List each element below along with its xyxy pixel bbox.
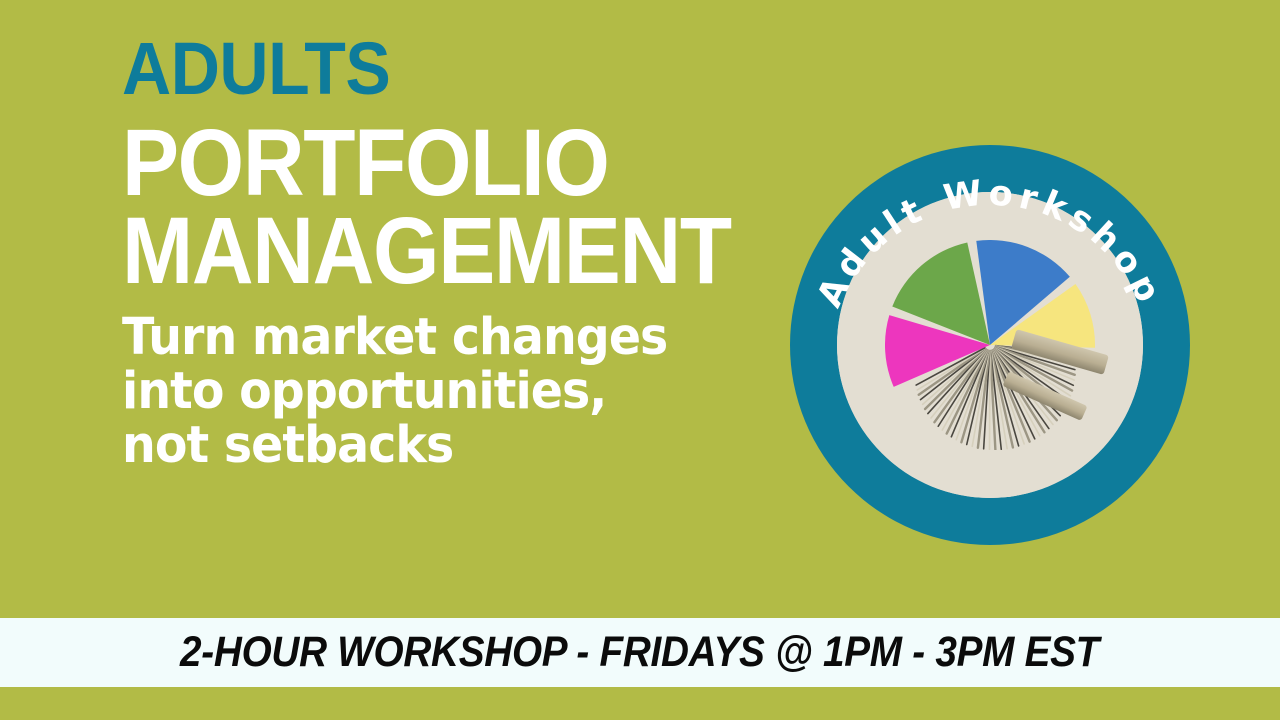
text-column: ADULTS PORTFOLIO MANAGEMENT Turn market …: [122, 34, 802, 473]
subheadline-line-1: Turn market changes: [122, 311, 754, 365]
eyebrow-label: ADULTS: [122, 34, 748, 104]
headline-line-2: MANAGEMENT: [122, 208, 734, 295]
page-title: PORTFOLIO MANAGEMENT: [122, 120, 734, 295]
subheadline: Turn market changes into opportunities, …: [122, 311, 754, 473]
badge-arc-label: Adult Workshop: [810, 173, 1170, 314]
schedule-text: 2-HOUR WORKSHOP - FRIDAYS @ 1PM - 3PM ES…: [181, 628, 1100, 677]
schedule-banner: 2-HOUR WORKSHOP - FRIDAYS @ 1PM - 3PM ES…: [0, 618, 1280, 687]
headline-line-1: PORTFOLIO: [122, 120, 734, 207]
promo-poster: ADULTS PORTFOLIO MANAGEMENT Turn market …: [0, 0, 1280, 720]
subheadline-line-2: into opportunities,: [122, 365, 754, 419]
subheadline-line-3: not setbacks: [122, 419, 754, 473]
badge-arc-text: Adult Workshop: [790, 145, 1190, 545]
adult-workshop-badge: Adult Workshop: [790, 145, 1190, 545]
svg-text:Adult Workshop: Adult Workshop: [810, 173, 1170, 314]
